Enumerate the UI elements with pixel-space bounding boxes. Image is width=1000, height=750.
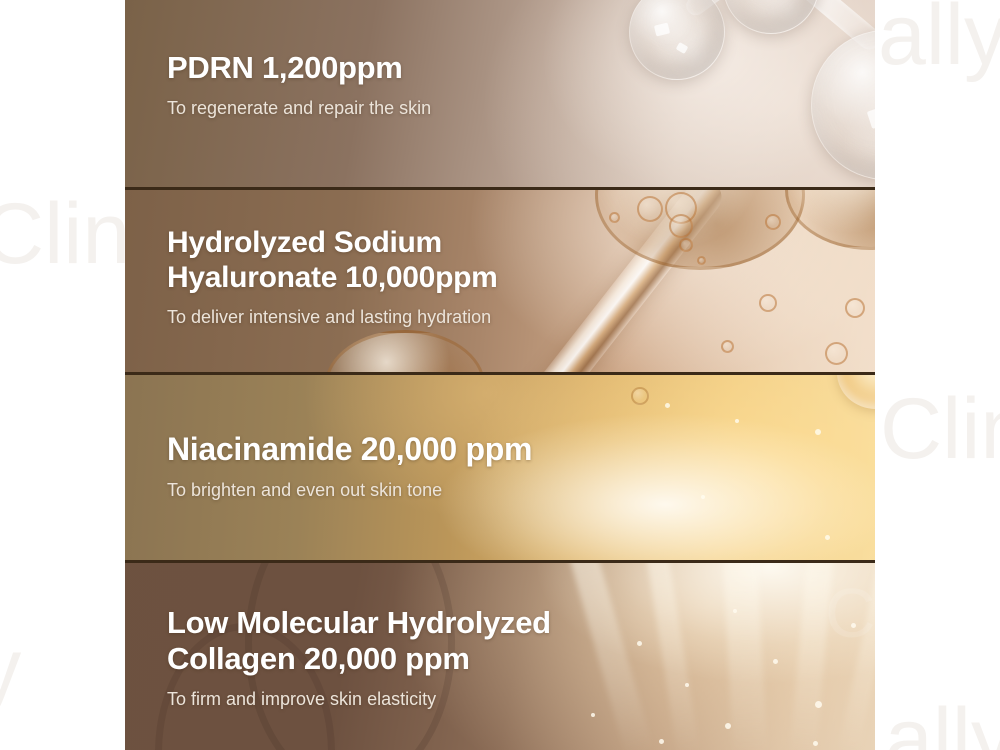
serum-droplet [785,190,875,250]
serum-droplet-icon [837,375,875,409]
light-speck [701,495,705,499]
serum-droplet [325,330,485,375]
sparkle [733,609,737,613]
panel-copy-hyaluronate: Hydrolyzed Sodium Hyaluronate 10,000ppm … [167,226,498,329]
light-speck [735,419,739,423]
panel-copy-pdrn: PDRN 1,200ppm To regenerate and repair t… [167,50,431,120]
light-speck [815,429,821,435]
sparkle [851,623,856,628]
ingredient-title-line-2: Hyaluronate 10,000ppm [167,261,498,296]
bubble-icon [609,212,620,223]
ingredient-panel-pdrn: PDRN 1,200ppm To regenerate and repair t… [125,0,875,190]
sparkle [685,683,689,687]
bubble-icon [697,256,706,265]
sparkle [773,659,778,664]
bubble-icon [825,342,848,365]
molecule-atom-icon [629,0,725,80]
ingredient-panel-collagen: Clinikally Low Molecular Hydrolyzed Coll… [125,563,875,750]
sparkle [591,713,595,717]
panel-copy-collagen: Low Molecular Hydrolyzed Collagen 20,000… [167,605,551,711]
ingredient-title-line-1: Low Molecular Hydrolyzed [167,605,551,641]
ingredient-title-line-2: Collagen 20,000 ppm [167,641,551,677]
sparkle [815,701,822,708]
panel-copy-niacinamide: Niacinamide 20,000 ppm To brighten and e… [167,431,532,503]
light-ray [642,563,711,750]
bubble-icon [759,294,777,312]
light-ray [784,563,836,750]
ingredient-subtitle: To regenerate and repair the skin [167,97,431,120]
ingredient-subtitle: To brighten and even out skin tone [167,479,532,502]
watermark-brand-right-lower: ally [885,690,1000,750]
ingredient-subtitle: To firm and improve skin elasticity [167,688,551,711]
ingredient-panel-niacinamide: Niacinamide 20,000 ppm To brighten and e… [125,375,875,563]
light-speck [825,535,830,540]
sparkle [725,723,731,729]
watermark-brand-right-middle: Clinikally [880,380,1000,479]
ingredient-title: PDRN 1,200ppm [167,50,431,86]
ingredient-title-line-1: Hydrolyzed Sodium [167,226,498,261]
molecule-atom-icon [723,0,819,34]
ingredient-panel-hyaluronate: Hydrolyzed Sodium Hyaluronate 10,000ppm … [125,190,875,375]
light-ray [721,563,771,750]
watermark-brand-left-lower: lly [0,620,21,719]
watermark-brand-right-upper: ally [878,0,1000,85]
bubble-icon [845,298,865,318]
bubble-icon [669,214,693,238]
ingredient-panel-stack: PDRN 1,200ppm To regenerate and repair t… [125,0,875,750]
molecule-atom-icon [811,30,875,180]
ingredient-subtitle: To deliver intensive and lasting hydrati… [167,306,498,329]
bubble-icon [765,214,781,230]
ingredient-title: Niacinamide 20,000 ppm [167,431,532,468]
light-speck [665,403,670,408]
light-ray [824,563,875,750]
bubble-icon [721,340,734,353]
product-ingredient-infographic: Clinik lly ally Clinikally ally [0,0,1000,750]
sparkle [659,739,664,744]
bubble-icon [679,238,693,252]
bubble-icon [637,196,663,222]
bubble-icon [631,387,649,405]
sparkle [637,641,642,646]
sparkle [813,741,818,746]
